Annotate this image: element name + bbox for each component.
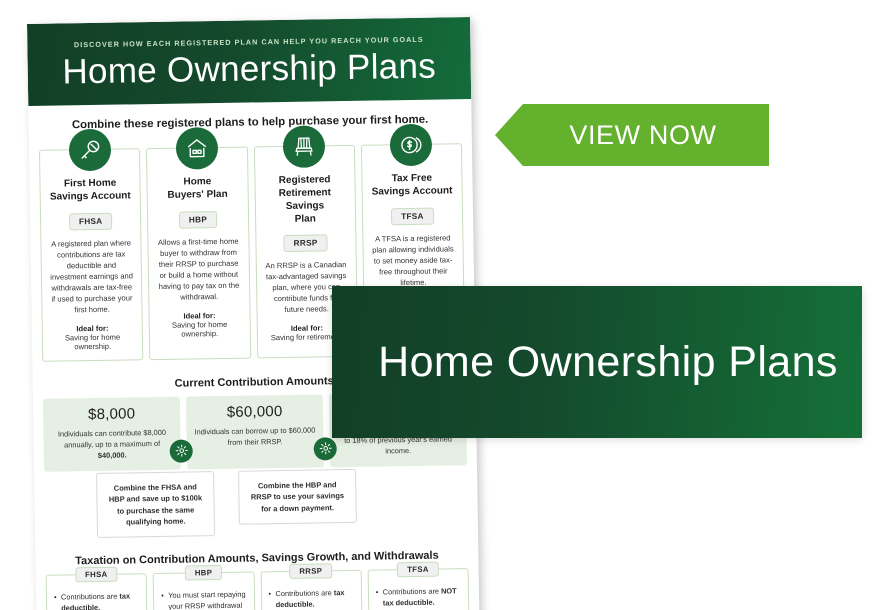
plan-name: Home Buyers' Plan <box>155 176 241 203</box>
list-item: You must start repaying your RRSP withdr… <box>161 589 247 610</box>
item-lead: Contributions are <box>61 592 119 602</box>
list-item: Contributions are NOT tax deductible. <box>376 585 462 609</box>
gear-icon <box>314 437 337 460</box>
overlay-title: Home Ownership Plans <box>356 338 838 386</box>
item-lead: Contributions are <box>383 587 441 597</box>
screenshot-stage: DISCOVER HOW EACH REGISTERED PLAN CAN HE… <box>0 0 893 610</box>
taxation-card-fhsa[interactable]: FHSA Contributions are tax deductible. S… <box>46 573 149 610</box>
plan-name: Tax Free Savings Account <box>369 172 455 199</box>
combo-box-hbp-rrsp[interactable]: Combine the HBP and RRSP to use your sav… <box>238 469 357 525</box>
plan-pill-hbp: HBP <box>179 211 217 229</box>
taxation-card-rrsp[interactable]: RRSP Contributions are tax deductible. S… <box>260 570 363 610</box>
plan-description: A TFSA is a registered plan allowing ind… <box>370 232 456 288</box>
item-lead: You must start repaying your RRSP withdr… <box>168 590 246 610</box>
taxation-pill-tfsa: TFSA <box>397 562 439 578</box>
taxation-list: You must start repaying your RRSP withdr… <box>161 589 248 610</box>
plan-card-hbp[interactable]: Home Buyers' Plan HBP Allows a first-tim… <box>146 147 251 360</box>
dollar-coin-icon <box>390 124 433 167</box>
plan-pill-fhsa: FHSA <box>69 212 113 230</box>
plan-pill-tfsa: TFSA <box>391 207 434 225</box>
list-item: Contributions are tax deductible. <box>54 590 140 610</box>
taxation-pill-rrsp: RRSP <box>289 563 332 579</box>
item-lead: Contributions are <box>275 588 333 598</box>
gear-icon <box>170 439 193 462</box>
plan-pill-rrsp: RRSP <box>283 235 327 253</box>
list-item: Contributions are tax deductible. <box>268 587 354 610</box>
combo-box-row: Combine the FHSA and HBP and save up to … <box>42 465 470 538</box>
taxation-card-hbp[interactable]: HBP You must start repaying your RRSP wi… <box>153 572 256 610</box>
contribution-note: Individuals can contribute $8,000 annual… <box>51 426 173 461</box>
plan-description: A registered plan where contributions ar… <box>48 237 134 315</box>
taxation-list: Contributions are tax deductible. Saving… <box>54 590 141 610</box>
key-icon <box>68 129 111 172</box>
taxation-list: Contributions are tax deductible. Saving… <box>268 587 354 610</box>
plan-description: Allows a first-time home buyer to withdr… <box>156 235 242 302</box>
plan-ideal-text: Saving for home ownership. <box>157 319 243 338</box>
chair-icon <box>283 125 326 168</box>
overlay-title-panel: Home Ownership Plans <box>332 286 862 438</box>
poster-header: DISCOVER HOW EACH REGISTERED PLAN CAN HE… <box>27 17 471 106</box>
taxation-card-tfsa[interactable]: TFSA Contributions are NOT tax deductibl… <box>367 568 470 610</box>
contribution-note-bold: $40,000. <box>98 450 127 459</box>
view-now-label: VIEW NOW <box>547 120 716 151</box>
plan-ideal-text: Saving for home ownership. <box>50 332 136 351</box>
plan-card-fhsa[interactable]: First Home Savings Account FHSA A regist… <box>39 148 144 361</box>
taxation-pill-hbp: HBP <box>185 565 223 581</box>
contribution-card-fhsa[interactable]: $8,000 Individuals can contribute $8,000… <box>43 396 181 471</box>
contribution-amount: $60,000 <box>194 402 315 421</box>
taxation-card-row: FHSA Contributions are tax deductible. S… <box>44 568 473 610</box>
view-now-button[interactable]: VIEW NOW <box>495 104 769 166</box>
taxation-list: Contributions are NOT tax deductible. Sa… <box>376 585 462 610</box>
combo-box-fhsa-hbp[interactable]: Combine the FHSA and HBP and save up to … <box>96 471 215 538</box>
poster-title: Home Ownership Plans <box>41 49 457 92</box>
contribution-note-text: Individuals can borrow up to $60,000 fro… <box>194 425 315 446</box>
plan-name: First Home Savings Account <box>47 177 133 204</box>
contribution-note: Individuals can borrow up to $60,000 fro… <box>194 424 315 448</box>
plan-name: Registered Retirement Savings Plan <box>262 174 348 227</box>
house-icon <box>176 127 219 170</box>
contribution-card-hbp[interactable]: $60,000 Individuals can borrow up to $60… <box>186 394 324 469</box>
contribution-note-text: Individuals can contribute $8,000 annual… <box>58 428 166 450</box>
taxation-pill-fhsa: FHSA <box>75 567 118 583</box>
contribution-amount: $8,000 <box>51 404 172 423</box>
